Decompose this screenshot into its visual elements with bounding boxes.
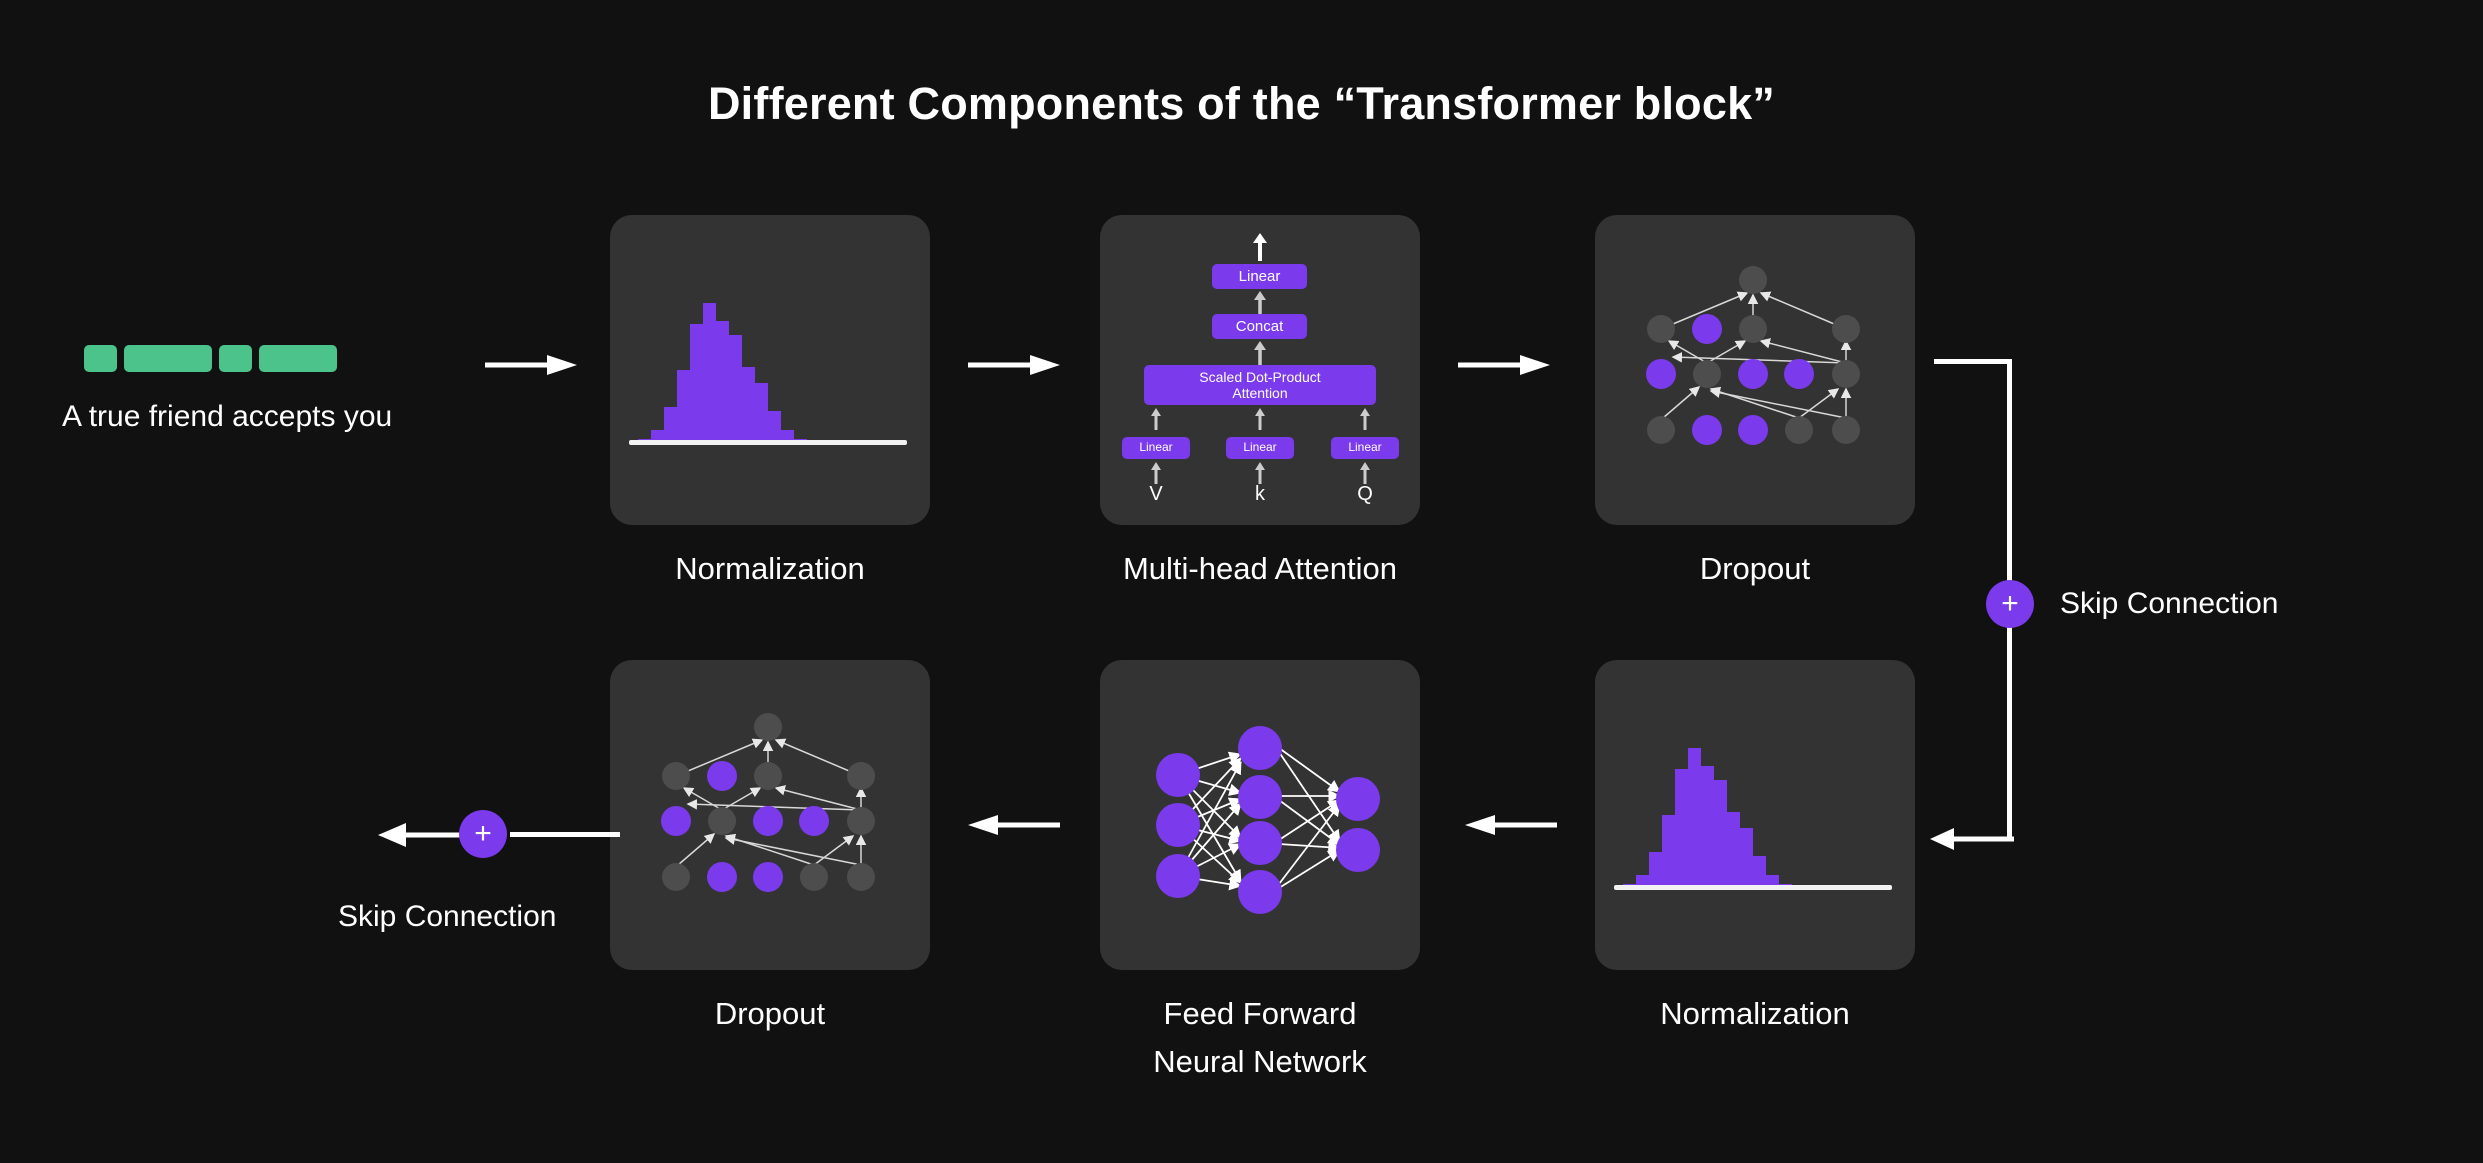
histogram-bar xyxy=(1727,812,1740,888)
dropout-network-graph-top xyxy=(1595,215,1915,525)
attention-arrow-sdpa-to-concat xyxy=(1252,341,1268,365)
attention-arrow-v-linear-up xyxy=(1149,408,1163,430)
histogram-bar xyxy=(1675,769,1688,888)
page-title-lead: Different Components of the xyxy=(708,78,1334,129)
skip-right-segment-horizontal-bottom xyxy=(1930,824,2014,854)
attention-sdpa-line2: Attention xyxy=(1232,385,1287,401)
feed-forward-network-graph xyxy=(1100,660,1420,970)
histogram-bar xyxy=(690,324,703,443)
dropout-node-dropped xyxy=(661,806,691,836)
arrow-ff-to-dropoutbottom xyxy=(968,812,1060,838)
token-bar xyxy=(84,345,117,372)
attention-linear-q[interactable]: Linear xyxy=(1331,437,1399,459)
ff-node-input xyxy=(1156,753,1200,797)
token-bar xyxy=(219,345,252,372)
dropout-node-active xyxy=(847,807,875,835)
attention-input-label-k: k xyxy=(1230,483,1290,506)
arrow-input-to-norm xyxy=(485,352,577,378)
ff-node-output xyxy=(1336,828,1380,872)
dropout-node-active xyxy=(1647,315,1675,343)
histogram-bar xyxy=(1714,780,1727,888)
dropout-node-dropped xyxy=(799,806,829,836)
card-label-dropout-top: Dropout xyxy=(1595,545,1915,593)
dropout-node-active xyxy=(847,863,875,891)
dropout-node-active xyxy=(800,863,828,891)
attention-linear-k[interactable]: Linear xyxy=(1226,437,1294,459)
histogram-bar xyxy=(1740,828,1753,888)
attention-concat[interactable]: Concat xyxy=(1212,314,1307,339)
page-title: Different Components of the “Transformer… xyxy=(0,78,2483,130)
input-token-bars xyxy=(84,345,337,372)
dropout-node-active xyxy=(1785,416,1813,444)
card-multi-head-attention[interactable]: Linear Concat Scaled Dot-Product Attenti… xyxy=(1100,215,1420,525)
dropout-node-active xyxy=(1832,315,1860,343)
arrow-attention-to-dropout xyxy=(1458,352,1550,378)
dropout-node-active xyxy=(1832,360,1860,388)
histogram-bar xyxy=(768,411,781,443)
skip-right-segment-horizontal-top xyxy=(1934,359,2012,364)
histogram-bar xyxy=(664,407,677,443)
ff-node-hidden xyxy=(1238,775,1282,819)
histogram-baseline-bottom xyxy=(1614,885,1892,890)
arrow-norm-to-attention xyxy=(968,352,1060,378)
dropout-node-active xyxy=(754,762,782,790)
normalization-histogram xyxy=(638,303,820,443)
attention-linear-v[interactable]: Linear xyxy=(1122,437,1190,459)
card-label-dropout-bottom: Dropout xyxy=(610,990,930,1038)
page-title-quoted: “Transformer block” xyxy=(1334,78,1775,129)
card-feed-forward[interactable] xyxy=(1100,660,1420,970)
histogram-bar xyxy=(755,383,768,443)
histogram-bar xyxy=(703,303,716,443)
card-normalization-top[interactable] xyxy=(610,215,930,525)
dropout-node-dropped xyxy=(1692,415,1722,445)
card-label-multi-head-attention: Multi-head Attention xyxy=(1090,545,1430,593)
attention-linear-top-label: Linear xyxy=(1239,268,1281,285)
dropout-network-graph-bottom xyxy=(610,660,930,970)
skip-right-plus-node[interactable]: + xyxy=(1986,580,2034,628)
dropout-node-dropped xyxy=(707,761,737,791)
dropout-node-active xyxy=(1647,416,1675,444)
attention-arrow-k-in xyxy=(1253,462,1267,484)
histogram-bar xyxy=(677,370,690,443)
card-label-feed-forward: Feed Forward Neural Network xyxy=(1090,990,1430,1086)
card-dropout-top[interactable] xyxy=(1595,215,1915,525)
dropout-node-dropped xyxy=(1646,359,1676,389)
ff-node-output xyxy=(1336,777,1380,821)
attention-linear-q-label: Linear xyxy=(1348,441,1381,455)
card-normalization-bottom[interactable] xyxy=(1595,660,1915,970)
attention-arrow-k-linear-up xyxy=(1253,408,1267,430)
plus-icon: + xyxy=(474,819,492,849)
dropout-node-active xyxy=(754,713,782,741)
dropout-node-active xyxy=(1693,360,1721,388)
skip-left-label: Skip Connection xyxy=(338,900,556,934)
ff-node-input xyxy=(1156,854,1200,898)
attention-arrow-q-linear-up xyxy=(1358,408,1372,430)
histogram-bar xyxy=(1701,766,1714,888)
card-label-normalization-top: Normalization xyxy=(610,545,930,593)
histogram-bar xyxy=(1649,852,1662,888)
skip-left-plus-node[interactable]: + xyxy=(459,810,507,858)
attention-linear-v-label: Linear xyxy=(1139,441,1172,455)
dropout-node-active xyxy=(708,807,736,835)
dropout-node-active xyxy=(1739,266,1767,294)
attention-arrow-concat-to-linear xyxy=(1252,291,1268,315)
token-bar xyxy=(259,345,337,372)
skip-right-label: Skip Connection xyxy=(2060,587,2278,621)
dropout-node-active xyxy=(847,762,875,790)
attention-scaled-dot-product[interactable]: Scaled Dot-Product Attention xyxy=(1144,365,1376,405)
skip-left-segment-line xyxy=(510,832,620,837)
histogram-bar xyxy=(729,335,742,443)
attention-input-label-q: Q xyxy=(1335,483,1395,506)
histogram-bar xyxy=(1662,815,1675,888)
dropout-node-active xyxy=(662,762,690,790)
dropout-node-dropped xyxy=(753,806,783,836)
attention-linear-top[interactable]: Linear xyxy=(1212,264,1307,289)
plus-icon: + xyxy=(2001,589,2019,619)
token-bar xyxy=(124,345,212,372)
ff-node-input xyxy=(1156,803,1200,847)
diagram-canvas: Different Components of the “Transformer… xyxy=(0,0,2483,1163)
attention-linear-k-label: Linear xyxy=(1243,441,1276,455)
attention-concat-label: Concat xyxy=(1236,318,1284,335)
input-caption: A true friend accepts you xyxy=(62,400,392,434)
histogram-bar xyxy=(1753,856,1766,888)
normalization-histogram-bottom xyxy=(1623,748,1805,888)
dropout-node-dropped xyxy=(753,862,783,892)
attention-arrow-v-in xyxy=(1149,462,1163,484)
dropout-node-dropped xyxy=(707,862,737,892)
dropout-node-active xyxy=(1832,416,1860,444)
attention-arrow-q-in xyxy=(1358,462,1372,484)
dropout-node-active xyxy=(1739,315,1767,343)
histogram-bar xyxy=(1688,748,1701,888)
attention-output-arrow xyxy=(1252,233,1268,261)
ff-node-hidden xyxy=(1238,726,1282,770)
card-dropout-bottom[interactable] xyxy=(610,660,930,970)
dropout-node-active xyxy=(662,863,690,891)
histogram-bar xyxy=(742,367,755,443)
histogram-bar xyxy=(716,321,729,443)
attention-sdpa-line1: Scaled Dot-Product xyxy=(1199,369,1320,385)
arrow-normbottom-to-ff xyxy=(1465,812,1557,838)
ff-node-hidden xyxy=(1238,870,1282,914)
attention-input-label-v: V xyxy=(1126,483,1186,506)
dropout-node-dropped xyxy=(1692,314,1722,344)
card-label-normalization-bottom: Normalization xyxy=(1595,990,1915,1038)
ff-node-hidden xyxy=(1238,821,1282,865)
dropout-node-dropped xyxy=(1738,359,1768,389)
histogram-baseline xyxy=(629,440,907,445)
dropout-node-dropped xyxy=(1784,359,1814,389)
dropout-node-dropped xyxy=(1738,415,1768,445)
